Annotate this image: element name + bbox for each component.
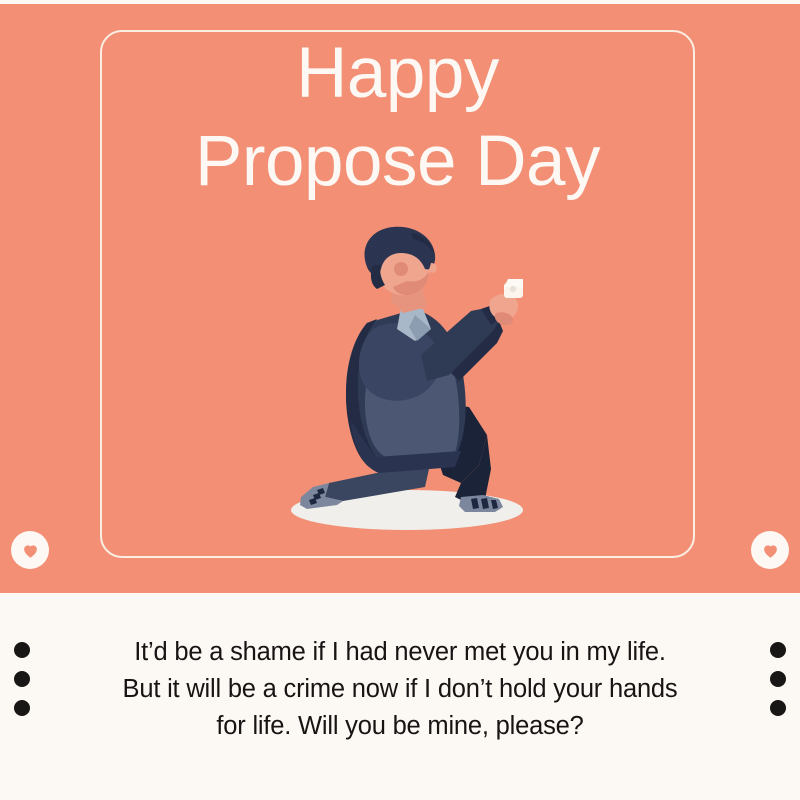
quote-text: It’d be a shame if I had never met you i… xyxy=(60,634,740,745)
heart-badge-left xyxy=(11,531,49,569)
ring-gem xyxy=(510,286,516,292)
heart-icon xyxy=(21,541,40,560)
dot xyxy=(14,642,30,658)
ring-box-lid xyxy=(504,279,523,287)
quote-line-3: for life. Will you be mine, please? xyxy=(60,708,740,745)
dot xyxy=(770,642,786,658)
title-line-1: Happy xyxy=(100,30,695,118)
heart-icon xyxy=(761,541,780,560)
ear xyxy=(394,262,408,276)
title-line-2: Propose Day xyxy=(100,118,695,206)
dot xyxy=(14,671,30,687)
propose-day-greeting-poster: Happy Propose Day xyxy=(0,0,800,800)
man-proposing-illustration xyxy=(255,225,555,535)
dot xyxy=(770,700,786,716)
heart-badge-right xyxy=(751,531,789,569)
dot xyxy=(770,671,786,687)
dot xyxy=(14,700,30,716)
quote-line-1: It’d be a shame if I had never met you i… xyxy=(60,634,740,671)
decorative-dots-left xyxy=(14,642,30,716)
decorative-dots-right xyxy=(770,642,786,716)
quote-line-2: But it will be a crime now if I don’t ho… xyxy=(60,671,740,708)
page-title: Happy Propose Day xyxy=(100,30,695,206)
